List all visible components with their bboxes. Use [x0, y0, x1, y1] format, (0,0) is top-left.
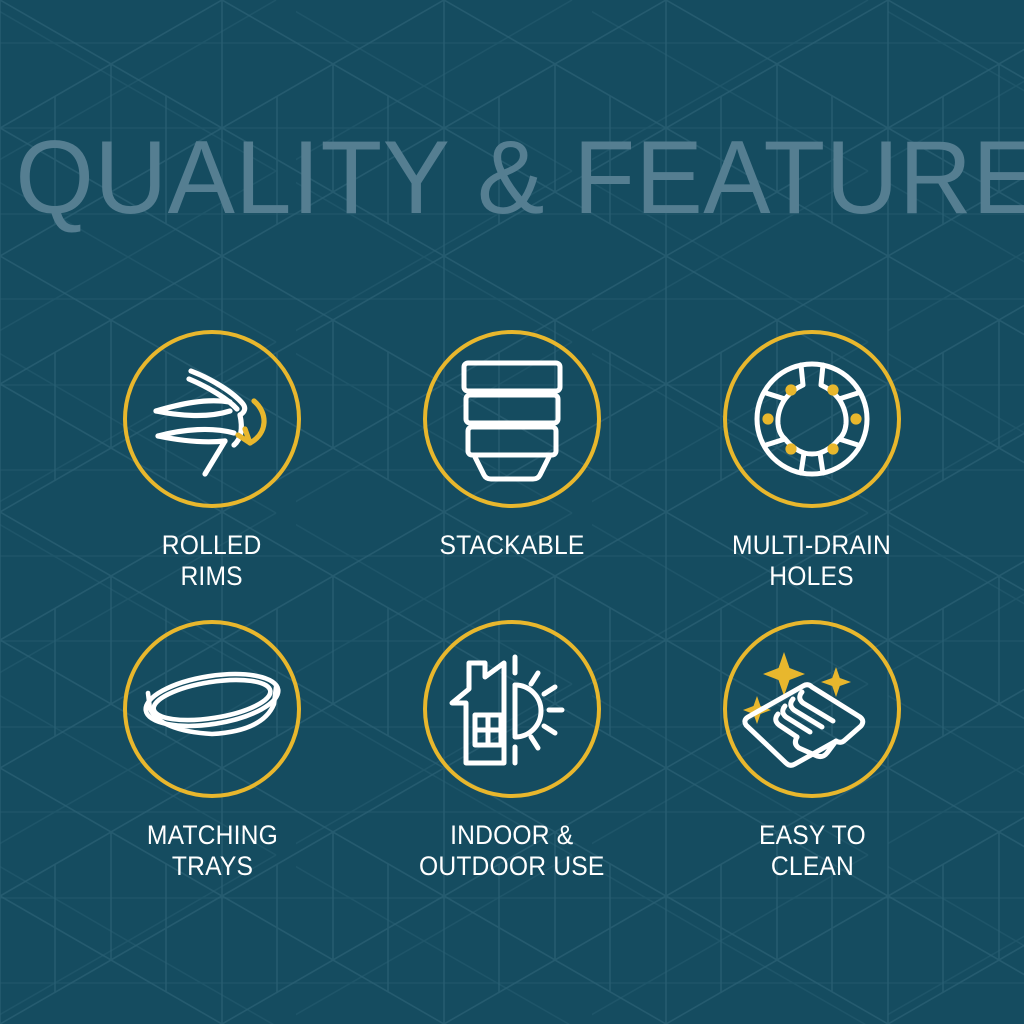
- feature-indoor-outdoor-use[interactable]: INDOOR & OUTDOOR USE: [362, 620, 662, 910]
- feature-rolled-rims[interactable]: ROLLED RIMS: [62, 330, 362, 620]
- feature-label: EASY TO CLEAN: [759, 820, 866, 881]
- feature-label: STACKABLE: [439, 530, 584, 561]
- rolled-rim-icon: [142, 349, 282, 489]
- feature-matching-trays[interactable]: MATCHING TRAYS: [62, 620, 362, 910]
- icon-ring-rolled-rims: [123, 330, 301, 508]
- house-sun-icon: [442, 639, 582, 779]
- feature-label: MATCHING TRAYS: [146, 820, 277, 881]
- feature-label: INDOOR & OUTDOOR USE: [419, 820, 605, 881]
- feature-label: MULTI-DRAIN HOLES: [732, 530, 891, 591]
- infographic-canvas: QUALITY & FEATURES: [0, 0, 1024, 1024]
- icon-ring-multi-drain-holes: [723, 330, 901, 508]
- feature-multi-drain-holes[interactable]: MULTI-DRAIN HOLES: [662, 330, 962, 620]
- feature-easy-to-clean[interactable]: EASY TO CLEAN: [662, 620, 962, 910]
- icon-ring-easy-to-clean: [723, 620, 901, 798]
- icon-ring-indoor-outdoor-use: [423, 620, 601, 798]
- saucer-tray-icon: [137, 634, 287, 784]
- hand-wipe-sparkle-icon: [737, 634, 887, 784]
- feature-label: ROLLED RIMS: [162, 530, 262, 591]
- icon-ring-stackable: [423, 330, 601, 508]
- feature-stackable[interactable]: STACKABLE: [362, 330, 662, 620]
- drain-holes-icon: [742, 349, 882, 489]
- stacked-pots-icon: [442, 349, 582, 489]
- page-title: QUALITY & FEATURES: [15, 126, 1008, 230]
- feature-grid: ROLLED RIMS STACKABLE: [62, 330, 962, 910]
- icon-ring-matching-trays: [123, 620, 301, 798]
